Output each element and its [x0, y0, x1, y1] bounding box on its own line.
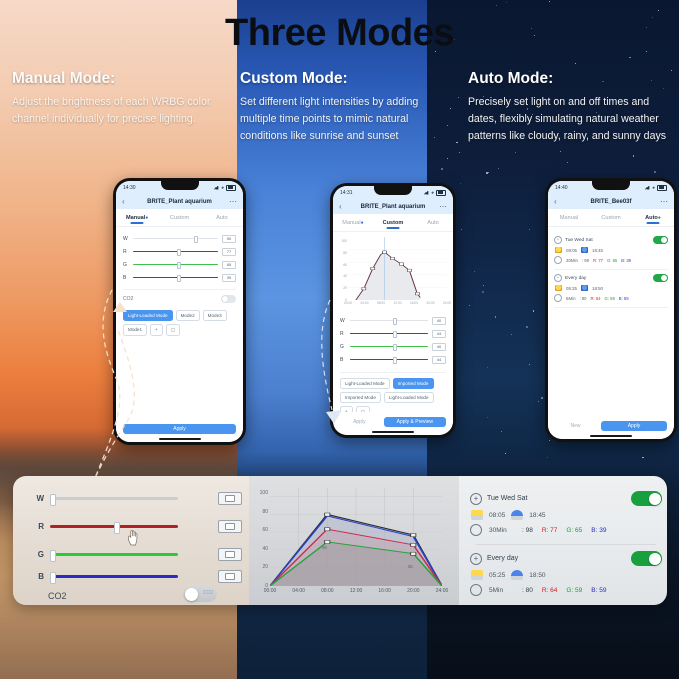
panel-schedule-list: + Tue Wed Sat 08:05 18:45 30Min : 98 R: …	[470, 488, 662, 600]
star	[560, 151, 561, 152]
add-circle-icon[interactable]: +	[470, 553, 482, 565]
slider-w-knob[interactable]	[393, 318, 397, 326]
slider-g-knob[interactable]	[393, 344, 397, 352]
nav-title: BRITE_Plant aquarium	[333, 204, 453, 210]
star	[447, 158, 448, 159]
panel-chart-x-labels: 00:0004:0008:0012:0016:0020:0024:00	[270, 588, 442, 598]
star	[487, 367, 488, 368]
caption-auto-body: Precisely set light on and off times and…	[468, 94, 673, 145]
panel-slider-g-knob[interactable]	[50, 550, 56, 562]
co2-toggle[interactable]	[221, 295, 236, 303]
star	[486, 172, 488, 174]
clock-icon	[554, 256, 562, 264]
new-button[interactable]: New	[555, 421, 596, 431]
sunrise-icon	[555, 247, 562, 253]
notch	[592, 181, 630, 190]
phone-manual: 14:30 ◕ ‹ BRITE_Plant aquarium ⋯ Manual●…	[113, 178, 246, 445]
auto-footer-buttons: New Apply	[555, 421, 667, 431]
star	[460, 183, 461, 184]
tab-manual[interactable]: Manual●	[116, 215, 158, 221]
star	[529, 364, 530, 365]
tab-custom[interactable]: Custom	[590, 215, 632, 221]
tab-auto[interactable]: Auto	[413, 220, 453, 226]
battery-icon	[226, 185, 236, 191]
panel-schedule-2-off: 18:50	[529, 572, 545, 579]
schedule-card-1[interactable]: + Tue Wed Sat 08:05 18:45 30Min	[554, 232, 668, 270]
tab-bar-custom: Manual● Custom Auto	[333, 214, 453, 232]
star	[461, 229, 462, 230]
tab-manual-label: Manual	[342, 220, 360, 226]
star	[459, 152, 460, 153]
star	[541, 397, 543, 399]
toggle-knob	[649, 493, 661, 505]
panel-schedule-2-r: R: 64	[542, 587, 558, 594]
panel-schedule-1-b: B: 39	[591, 527, 606, 534]
add-circle-icon[interactable]: +	[554, 236, 562, 244]
toggle-knob	[661, 237, 668, 244]
schedule-2-w: : 80	[580, 296, 587, 301]
star	[658, 10, 659, 11]
panel-schedule-2-toggle[interactable]	[631, 551, 662, 566]
phone-auto: 14:40 ◕ ‹ BRITE_Bee03f ⋯ Manual Custom A…	[545, 178, 677, 442]
panel-slider-g-label: G	[30, 550, 44, 559]
panel-schedule-2-b: B: 59	[591, 587, 606, 594]
status-bar-auto: 14:40 ◕	[548, 181, 674, 194]
star	[506, 2, 507, 3]
panel-slider-w-value[interactable]	[218, 492, 242, 505]
panel-schedule-1-channels: : 98 R: 77 G: 65 B: 39	[522, 527, 606, 534]
star	[458, 97, 459, 98]
sunset-icon	[511, 510, 523, 520]
tab-custom[interactable]: Custom	[158, 215, 200, 221]
caption-custom-title: Custom Mode:	[240, 70, 450, 88]
slider-b-knob[interactable]	[393, 357, 397, 365]
slider-b[interactable]: B 44	[340, 353, 446, 366]
panel-chart-plot: 49 36	[270, 488, 442, 586]
star	[487, 417, 488, 418]
slider-w-knob[interactable]	[194, 236, 198, 244]
schedule-1-channels: : 98 R: 77 G: 65 B: 39	[582, 258, 631, 263]
slider-r-label: R	[123, 249, 129, 255]
schedule-2-values: 5Min : 80 R: 64 G: 59 B: 59	[554, 294, 668, 302]
add-circle-icon[interactable]: +	[554, 274, 562, 282]
slider-r-knob[interactable]	[393, 331, 397, 339]
schedule-2-times: 05:25 18:50	[554, 285, 668, 291]
panel-slider-w[interactable]: W	[30, 494, 178, 503]
slider-b[interactable]: B 39	[123, 271, 236, 284]
custom-chart-y-tick: 100	[341, 239, 347, 243]
clock-icon	[554, 294, 562, 302]
add-mode-icon[interactable]: +	[150, 324, 163, 336]
status-icons: ◕	[424, 190, 446, 196]
panel-slider-r[interactable]: R	[30, 522, 178, 531]
panel-slider-g-value[interactable]	[218, 548, 242, 561]
panel-schedule-2[interactable]: + Every day 05:25 18:50 5Min : 80 R: 64 …	[470, 548, 662, 600]
schedule-1-values: 30Min : 98 R: 77 G: 65 B: 39	[554, 256, 668, 264]
panel-slider-w-knob[interactable]	[50, 494, 56, 506]
panel-chart-y-tick: 40	[262, 546, 268, 552]
panel-chart-x-tick: 04:00	[292, 588, 305, 594]
panel-schedule-divider	[476, 544, 656, 545]
slider-g-track[interactable]	[133, 264, 218, 266]
slider-r[interactable]: R 44	[340, 327, 446, 340]
chip-light-loaded-mode-b[interactable]: Light-Loaded Mode	[384, 392, 434, 403]
panel-slider-w-track[interactable]	[50, 497, 178, 500]
custom-chart-x-tick: 12:00	[394, 301, 402, 305]
stepper-icon	[225, 523, 235, 530]
slider-g-track[interactable]	[350, 346, 428, 348]
sunset-icon	[581, 247, 588, 253]
panel-slider-b[interactable]: B	[30, 572, 178, 581]
panel-schedule-2-values: 5Min : 80 R: 64 G: 59 B: 59	[470, 584, 662, 596]
panel-schedule-2-channels: : 80 R: 64 G: 59 B: 59	[522, 587, 606, 594]
wifi-icon: ◕	[221, 185, 224, 191]
panel-schedule-1-on: 08:05	[489, 512, 505, 519]
chart-x-labels: 00:0004:0008:0012:0016:0020:0024:00	[348, 301, 447, 310]
panel-co2-label: CO2	[48, 591, 67, 601]
slider-w[interactable]: W 40	[340, 314, 446, 327]
apply-button[interactable]: Apply	[601, 421, 667, 431]
tab-custom[interactable]: Custom	[373, 220, 413, 226]
panel-slider-r-knob[interactable]	[114, 522, 120, 534]
signal-icon	[214, 186, 219, 190]
panel-schedule-1-header: + Tue Wed Sat	[470, 491, 662, 506]
schedule-list: + Tue Wed Sat 08:05 18:45 30Min	[548, 227, 674, 313]
caption-auto-title: Auto Mode:	[468, 70, 673, 88]
tab-bar: Manual● Custom Auto	[116, 209, 243, 227]
custom-chart-x-tick: 24:00	[443, 301, 451, 305]
star	[482, 291, 484, 293]
tab-bar-auto: Manual Custom Auto●	[548, 209, 674, 227]
star	[441, 168, 443, 170]
star	[474, 271, 475, 272]
panel-chart-x-tick: 08:00	[321, 588, 334, 594]
slider-w-label: W	[340, 318, 346, 324]
custom-chart-x-tick: 00:00	[344, 301, 352, 305]
panel-slider-g[interactable]: G	[30, 550, 178, 559]
custom-curve-chart[interactable]: 020406080100	[338, 235, 448, 310]
panel-schedule-2-times: 05:25 18:50	[470, 570, 662, 580]
schedule-1-r: R: 77	[593, 258, 603, 263]
custom-chart-y-tick: 20	[343, 286, 347, 290]
tab-active-dot-icon: ●	[658, 215, 661, 221]
chip-mode3[interactable]: Mode3	[203, 310, 227, 321]
slider-w-track[interactable]	[350, 320, 428, 322]
wifi-icon: ◕	[652, 185, 655, 191]
star	[633, 155, 635, 157]
co2-row: CO2	[123, 289, 236, 303]
panel-slider-b-label: B	[30, 572, 44, 581]
tab-dot-icon: ●	[361, 220, 364, 226]
stepper-icon	[225, 573, 235, 580]
slider-b-track[interactable]	[350, 359, 428, 361]
panel-schedule-2-w: : 80	[522, 587, 533, 594]
sunrise-icon	[555, 285, 562, 291]
slider-r-track[interactable]	[350, 333, 428, 335]
signal-icon	[645, 186, 650, 190]
star	[567, 162, 569, 164]
custom-footer-buttons: Apply Apply & Preview	[340, 417, 446, 427]
star	[526, 326, 528, 328]
slider-r-track[interactable]	[133, 251, 218, 253]
panel-chart-x-tick: 24:00	[436, 588, 449, 594]
status-bar: 14:30 ◕	[116, 181, 243, 194]
tab-auto-label: Auto	[645, 215, 658, 221]
status-time: 14:31	[340, 190, 353, 196]
chart-plot[interactable]	[348, 237, 447, 300]
tab-manual-label: Manual	[126, 215, 145, 221]
custom-chart-y-tick: 80	[343, 251, 347, 255]
star	[501, 431, 502, 432]
slider-b-label: B	[340, 357, 346, 363]
panel-slider-b-value[interactable]	[218, 570, 242, 583]
schedule-2-g: G: 59	[605, 296, 615, 301]
clock-icon	[470, 584, 482, 596]
slider-g[interactable]: G 40	[340, 340, 446, 353]
apply-button[interactable]: Apply	[340, 417, 379, 427]
schedule-2-days: Every day	[565, 276, 650, 281]
panel-slider-b-knob[interactable]	[50, 572, 56, 584]
tab-manual[interactable]: Manual●	[333, 220, 373, 226]
panel-chart-x-tick: 20:00	[407, 588, 420, 594]
star	[495, 316, 497, 318]
panel-co2-toggle-text: CO2	[203, 590, 213, 596]
tab-auto[interactable]: Auto●	[632, 215, 674, 221]
star	[483, 285, 484, 286]
caption-manual-title: Manual Mode:	[12, 70, 222, 88]
status-bar-custom: 14:31 ◕	[333, 186, 453, 199]
star	[529, 229, 530, 230]
slider-w-label: W	[123, 236, 129, 242]
notch	[161, 181, 199, 190]
slider-g-value[interactable]: 65	[222, 261, 236, 269]
panel-chart-y-tick: 80	[262, 509, 268, 515]
slider-g-knob[interactable]	[177, 262, 181, 270]
star	[549, 440, 550, 441]
panel-schedule-2-on: 05:25	[489, 572, 505, 579]
sunset-icon	[581, 285, 588, 291]
custom-body: W 40 R 44 G 40 B 44	[333, 312, 453, 423]
schedule-1-on-time: 08:05	[566, 248, 577, 253]
panel-schedule-1-g: G: 65	[566, 527, 582, 534]
status-icons: ◕	[645, 185, 667, 191]
schedule-2-b: B: 59	[619, 296, 629, 301]
co2-label: CO2	[123, 296, 133, 302]
signal-icon	[424, 191, 429, 195]
custom-chip-list: Light-Loaded Mode Imported Mode Imported…	[340, 372, 446, 403]
nav-title: BRITE_Bee03f	[548, 199, 674, 205]
star	[488, 172, 489, 173]
panel-schedule-2-ramp: 5Min	[489, 587, 515, 594]
schedule-2-toggle[interactable]	[653, 274, 668, 282]
home-indicator	[159, 438, 201, 440]
slider-g-value[interactable]: 40	[432, 343, 446, 351]
nav-bar-auto: ‹ BRITE_Bee03f ⋯	[548, 194, 674, 209]
notch	[374, 186, 412, 195]
phone-custom: 14:31 ◕ ‹ BRITE_Plant aquarium ⋯ Manual●…	[330, 183, 456, 438]
schedule-2-ramp: 5Min	[566, 296, 576, 301]
star	[575, 63, 576, 64]
panel-slider-r-value[interactable]	[218, 520, 242, 533]
panel-schedule-1-values: 30Min : 98 R: 77 G: 65 B: 39	[470, 524, 662, 536]
caption-manual: Manual Mode: Adjust the brightness of ea…	[12, 70, 222, 128]
chip-light-loaded-mode-a[interactable]: Light-Loaded Mode	[340, 378, 390, 389]
slider-b-value[interactable]: 39	[222, 274, 236, 282]
manual-body: W 50 R 77 G 65 B 39	[116, 227, 243, 341]
chip-imported-mode-b[interactable]: Imported Mode	[340, 392, 381, 403]
star	[654, 171, 656, 173]
schedule-2-header: + Every day	[554, 274, 668, 282]
toggle-knob	[661, 275, 668, 282]
home-indicator	[372, 431, 414, 433]
slider-b-track[interactable]	[133, 277, 218, 279]
schedule-1-days: Tue Wed Sat	[565, 238, 650, 243]
slider-b-value[interactable]: 44	[432, 356, 446, 364]
phone-manual-screen: 14:30 ◕ ‹ BRITE_Plant aquarium ⋯ Manual●…	[116, 181, 243, 442]
phone-custom-screen: 14:31 ◕ ‹ BRITE_Plant aquarium ⋯ Manual●…	[333, 186, 453, 435]
schedule-2-channels: : 80 R: 64 G: 59 B: 59	[580, 296, 629, 301]
schedule-1-header: + Tue Wed Sat	[554, 236, 668, 244]
apply-button[interactable]: Apply	[123, 424, 236, 434]
panel-schedule-1-toggle[interactable]	[631, 491, 662, 506]
panel-chart-x-tick: 00:00	[264, 588, 277, 594]
panel-schedule-2-header: + Every day	[470, 551, 662, 566]
panel-co2-toggle-knob	[185, 588, 198, 601]
panel-schedule-1-times: 08:05 18:45	[470, 510, 662, 520]
slider-r-value[interactable]: 77	[222, 248, 236, 256]
panel-schedule-2-days: Every day	[487, 555, 626, 562]
caption-auto: Auto Mode: Precisely set light on and of…	[468, 70, 673, 145]
nav-bar: ‹ BRITE_Plant aquarium ⋯	[116, 194, 243, 209]
star	[515, 152, 516, 153]
panel-chart-x-tick: 12:00	[350, 588, 363, 594]
wifi-icon: ◕	[431, 190, 434, 196]
slider-g[interactable]: G 65	[123, 258, 236, 271]
schedule-1-b: B: 39	[621, 258, 631, 263]
clock-icon	[470, 524, 482, 536]
panel-chart-y-tick: 20	[262, 564, 268, 570]
panel-schedule-1-off: 18:45	[529, 512, 545, 519]
chip-mode1[interactable]: Mode1	[123, 324, 147, 336]
slider-r-label: R	[340, 331, 346, 337]
caption-custom: Custom Mode: Set different light intensi…	[240, 70, 450, 145]
page-title: Three Modes	[0, 12, 679, 55]
schedule-card-2[interactable]: + Every day 05:25 18:50 5Min	[554, 270, 668, 308]
chip-mode2[interactable]: Mode2	[176, 310, 200, 321]
panel-co2-toggle[interactable]: CO2	[183, 586, 217, 602]
star	[549, 1, 550, 2]
star	[456, 142, 458, 144]
nav-bar-custom: ‹ BRITE_Plant aquarium ⋯	[333, 199, 453, 214]
status-time: 14:30	[123, 185, 136, 191]
panel-schedule-2-g: G: 59	[566, 587, 582, 594]
slider-r-value[interactable]: 44	[432, 330, 446, 338]
panel-schedule-1-days: Tue Wed Sat	[487, 495, 626, 502]
custom-chart-x-tick: 08:00	[377, 301, 385, 305]
panel-slider-r-track[interactable]	[50, 525, 178, 528]
panel-schedule-1-r: R: 77	[542, 527, 558, 534]
star	[496, 5, 497, 6]
star	[511, 334, 512, 335]
chart-y-labels: 020406080100	[338, 235, 347, 300]
star	[498, 168, 499, 169]
panel-schedule-1-ramp: 30Min	[489, 527, 515, 534]
add-circle-icon[interactable]: +	[470, 493, 482, 505]
battery-icon	[657, 185, 667, 191]
status-icons: ◕	[214, 185, 236, 191]
hand-pointer-icon	[126, 528, 140, 546]
sunrise-icon	[471, 570, 483, 580]
panel-chart-y-tick: 100	[260, 490, 268, 496]
schedule-2-on-time: 05:25	[566, 286, 577, 291]
caption-manual-body: Adjust the brightness of each WRBG color…	[12, 94, 222, 128]
panel-schedule-1-w: : 98	[522, 527, 533, 534]
schedule-1-times: 08:05 18:45	[554, 247, 668, 253]
star	[533, 310, 535, 312]
slider-w-track[interactable]	[133, 238, 218, 240]
nav-title: BRITE_Plant aquarium	[116, 199, 243, 205]
chip-imported-mode-a[interactable]: Imported Mode	[393, 378, 434, 389]
panel-chart-y-labels: 020406080100	[252, 484, 268, 586]
panel-slider-w-label: W	[30, 494, 44, 503]
delete-mode-icon[interactable]: ▢	[166, 324, 180, 336]
mode-chip-list: Light-Loaded Mode Mode2 Mode3 Mode1 + ▢	[123, 310, 236, 336]
slider-r[interactable]: R 77	[123, 245, 236, 258]
stepper-icon	[225, 551, 235, 558]
custom-chart-x-tick: 16:00	[410, 301, 418, 305]
schedule-1-g: G: 65	[607, 258, 617, 263]
custom-chart-x-tick: 20:00	[427, 301, 435, 305]
schedule-2-off-time: 18:50	[592, 286, 603, 291]
status-time: 14:40	[555, 185, 568, 191]
panel-slider-g-track[interactable]	[50, 553, 178, 556]
star	[629, 57, 631, 59]
tab-auto[interactable]: Auto	[201, 215, 243, 221]
slider-w[interactable]: W 50	[123, 232, 236, 245]
schedule-1-w: : 98	[582, 258, 589, 263]
chip-light-loaded-mode[interactable]: Light-Loaded Mode	[123, 310, 173, 321]
slider-b-label: B	[123, 275, 129, 281]
co2-toggle-knob	[222, 296, 229, 303]
custom-chart-y-tick: 40	[343, 274, 347, 278]
battery-icon	[436, 190, 446, 196]
star	[538, 401, 539, 402]
schedule-1-toggle[interactable]	[653, 236, 668, 244]
slider-w-value[interactable]: 50	[222, 235, 236, 243]
panel-slider-b-track[interactable]	[50, 575, 178, 578]
tab-active-dot-icon: ●	[145, 215, 148, 221]
panel-slider-r-label: R	[30, 522, 44, 531]
toggle-knob	[649, 553, 661, 565]
caption-custom-body: Set different light intensities by addin…	[240, 94, 450, 145]
slider-w-value[interactable]: 40	[432, 317, 446, 325]
slider-g-label: G	[123, 262, 129, 268]
star	[469, 305, 470, 306]
slider-g-label: G	[340, 344, 346, 350]
apply-preview-button[interactable]: Apply & Preview	[384, 417, 446, 427]
phone-auto-screen: 14:40 ◕ ‹ BRITE_Bee03f ⋯ Manual Custom A…	[548, 181, 674, 439]
home-indicator	[590, 435, 632, 437]
tab-manual[interactable]: Manual	[548, 215, 590, 221]
slider-r-knob[interactable]	[177, 249, 181, 257]
sunrise-icon	[471, 510, 483, 520]
schedule-2-r: R: 64	[591, 296, 601, 301]
panel-chart-y-tick: 60	[262, 527, 268, 533]
schedule-1-ramp: 30Min	[566, 258, 578, 263]
panel-chart: 020406080100	[252, 484, 444, 600]
slider-b-knob[interactable]	[177, 275, 181, 283]
panel-schedule-1[interactable]: + Tue Wed Sat 08:05 18:45 30Min : 98 R: …	[470, 488, 662, 540]
